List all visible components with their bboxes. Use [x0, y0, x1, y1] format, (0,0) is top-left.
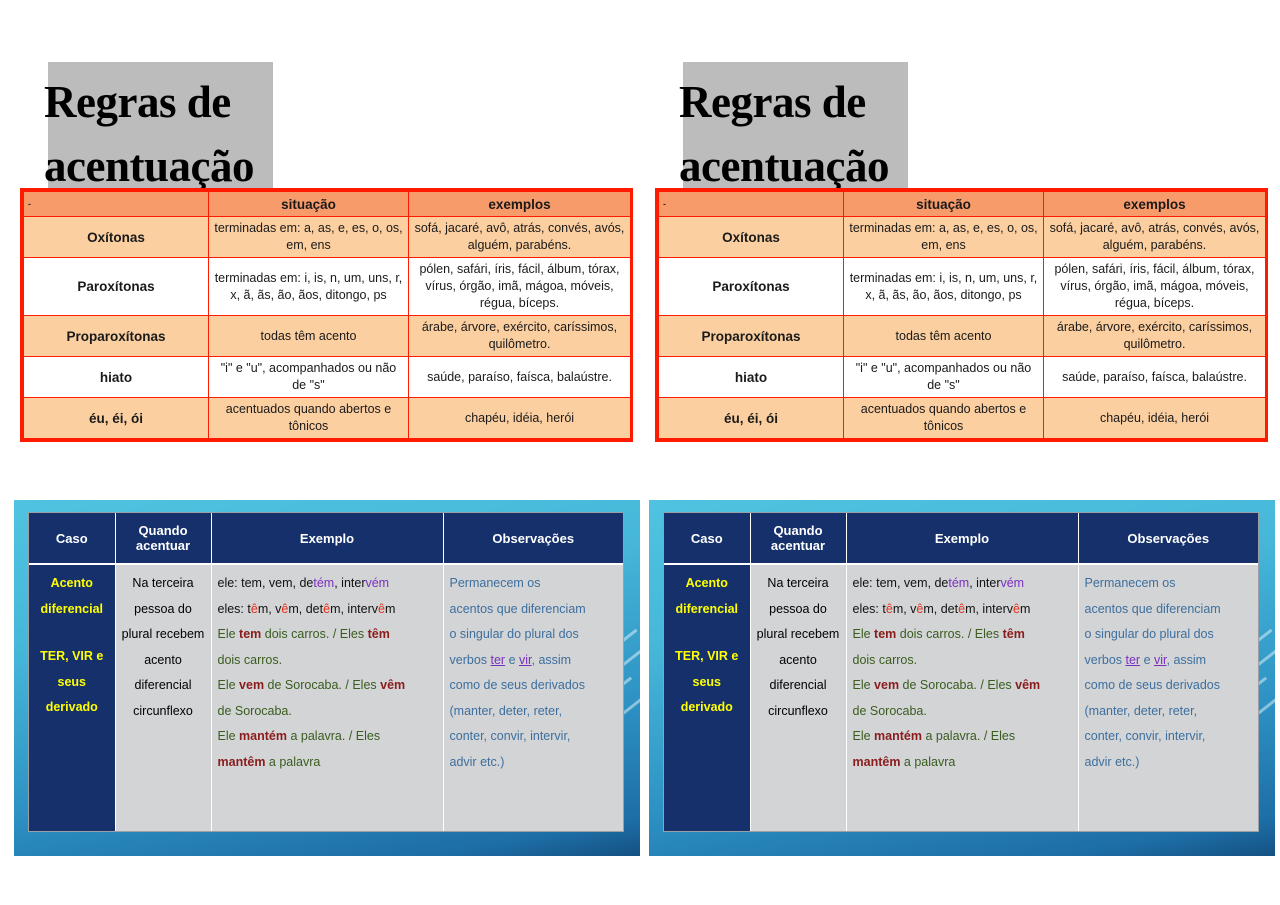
text-fragment: mantêm	[218, 755, 266, 769]
exemplo-line: ele: tem, vem, detém, intervém	[218, 571, 437, 597]
text-fragment: , inter	[969, 576, 1000, 590]
column-header-blank: -	[24, 192, 209, 217]
text-fragment: Ele	[218, 627, 240, 641]
diferencial-slide-panel: Caso Quando acentuar Exemplo Observações…	[14, 500, 640, 856]
cell-situacao: terminadas em: a, as, e, es, o, os, em, …	[844, 217, 1044, 258]
cell-situacao: acentuados quando abertos e tônicos	[844, 398, 1044, 439]
obs-line: como de seus derivados	[450, 673, 618, 699]
table-row: hiato "i" e "u", acompanhados ou não de …	[24, 357, 631, 398]
diferencial-table: Caso Quando acentuar Exemplo Observações…	[663, 512, 1259, 832]
column-header-exemplo: Exemplo	[846, 513, 1078, 564]
cell-observacoes: Permanecem os acentos que diferenciam o …	[1078, 564, 1258, 831]
text-fragment: verbos	[1085, 653, 1126, 667]
text-fragment: Ele	[853, 678, 875, 692]
exemplo-line: eles: têm, vêm, detêm, intervêm	[853, 597, 1072, 623]
text-fragment: mantém	[239, 729, 287, 743]
cell-caso: hiato	[659, 357, 844, 398]
column-header-caso: Caso	[664, 513, 750, 564]
table-row: Proparoxítonas todas têm acento árabe, á…	[659, 316, 1266, 357]
exemplo-line: dois carros.	[853, 648, 1072, 674]
text-fragment: ê	[251, 602, 258, 616]
text-fragment: ê	[886, 602, 893, 616]
exemplo-line: Ele tem dois carros. / Eles têm	[218, 622, 437, 648]
text-fragment: dois carros. / Eles	[261, 627, 367, 641]
verb-link-ter[interactable]: ter	[1126, 653, 1141, 667]
text-fragment: m, det	[288, 602, 323, 616]
text-fragment: m, interv	[965, 602, 1013, 616]
exemplo-line: Ele vem de Sorocaba. / Eles vêm	[853, 673, 1072, 699]
column-header-blank: -	[659, 192, 844, 217]
slide-panel: Regras de acentuação - situação exemplos…	[635, 0, 1275, 905]
column-header-quando-acentuar: Quando acentuar	[750, 513, 846, 564]
diferencial-slide-panel: Caso Quando acentuar Exemplo Observações…	[649, 500, 1275, 856]
table-row: Acento diferencial TER, VIR e seus deriv…	[29, 564, 623, 831]
cell-caso: Proparoxítonas	[659, 316, 844, 357]
text-fragment: m, v	[258, 602, 282, 616]
obs-line: (manter, deter, reter,	[1085, 699, 1253, 725]
obs-line: o singular do plural dos	[1085, 622, 1253, 648]
text-fragment: a palavra	[900, 755, 955, 769]
caso-line: Acento	[51, 576, 93, 590]
cell-caso: Paroxítonas	[24, 258, 209, 316]
caso-line: derivado	[681, 700, 733, 714]
text-fragment: têm	[1003, 627, 1025, 641]
diferencial-table: Caso Quando acentuar Exemplo Observações…	[28, 512, 624, 832]
table-row: Oxítonas terminadas em: a, as, e, es, o,…	[24, 217, 631, 258]
table-row: Acento diferencial TER, VIR e seus deriv…	[664, 564, 1258, 831]
exemplo-line: de Sorocaba.	[853, 699, 1072, 725]
obs-line: como de seus derivados	[1085, 673, 1253, 699]
text-fragment: têm	[368, 627, 390, 641]
exemplo-line: Ele vem de Sorocaba. / Eles vêm	[218, 673, 437, 699]
cell-observacoes: Permanecem os acentos que diferenciam o …	[443, 564, 623, 831]
cell-quando-acentuar: Na terceira pessoa do plural recebem ace…	[115, 564, 211, 831]
caso-line: TER, VIR e	[675, 649, 738, 663]
text-fragment: , assim	[532, 653, 572, 667]
caso-spacer	[670, 622, 744, 644]
obs-line: verbos ter e vir, assim	[450, 648, 618, 674]
text-fragment: Ele	[218, 729, 240, 743]
column-header-exemplo: Exemplo	[211, 513, 443, 564]
cell-caso: Acento diferencial TER, VIR e seus deriv…	[664, 564, 750, 831]
text-fragment: ele: tem, vem, de	[218, 576, 314, 590]
text-fragment: , inter	[334, 576, 365, 590]
exemplo-line: mantêm a palavra	[218, 750, 437, 776]
obs-line: acentos que diferenciam	[1085, 597, 1253, 623]
column-header-exemplos: exemplos	[409, 192, 631, 217]
text-fragment: m, v	[893, 602, 917, 616]
table-row: hiato "i" e "u", acompanhados ou não de …	[659, 357, 1266, 398]
obs-line: o singular do plural dos	[450, 622, 618, 648]
text-fragment: tem	[874, 627, 896, 641]
obs-line: acentos que diferenciam	[450, 597, 618, 623]
text-fragment: vém	[365, 576, 389, 590]
exemplo-line: eles: têm, vêm, detêm, intervêm	[218, 597, 437, 623]
verb-link-vir[interactable]: vir	[519, 653, 532, 667]
column-header-quando-acentuar: Quando acentuar	[115, 513, 211, 564]
text-fragment: tém	[313, 576, 334, 590]
text-fragment: vêm	[1015, 678, 1040, 692]
cell-situacao: "i" e "u", acompanhados ou não de "s"	[209, 357, 409, 398]
cell-caso: Acento diferencial TER, VIR e seus deriv…	[29, 564, 115, 831]
exemplo-line: dois carros.	[218, 648, 437, 674]
obs-line: conter, convir, intervir,	[450, 724, 618, 750]
cell-exemplo: ele: tem, vem, detém, intervém eles: têm…	[211, 564, 443, 831]
cell-situacao: terminadas em: i, is, n, um, uns, r, x, …	[844, 258, 1044, 316]
column-header-caso: Caso	[29, 513, 115, 564]
table-header-row: Caso Quando acentuar Exemplo Observações	[29, 513, 623, 564]
text-fragment: eles: t	[218, 602, 251, 616]
text-fragment: a palavra. / Eles	[922, 729, 1015, 743]
text-fragment: a palavra. / Eles	[287, 729, 380, 743]
text-fragment: tem	[239, 627, 261, 641]
exemplo-line: de Sorocaba.	[218, 699, 437, 725]
caso-line: diferencial	[40, 602, 103, 616]
cell-caso: Paroxítonas	[659, 258, 844, 316]
text-fragment: vem	[239, 678, 264, 692]
text-fragment: e	[1140, 653, 1154, 667]
page-title: Regras de acentuação	[679, 70, 1009, 198]
table-row: éu, éi, ói acentuados quando abertos e t…	[24, 398, 631, 439]
table-row: Proparoxítonas todas têm acento árabe, á…	[24, 316, 631, 357]
cell-exemplos: sofá, jacaré, avô, atrás, convés, avós, …	[409, 217, 631, 258]
caso-spacer	[35, 622, 109, 644]
caso-line: diferencial	[675, 602, 738, 616]
text-fragment: vém	[1000, 576, 1024, 590]
text-fragment: Ele	[218, 678, 240, 692]
cell-exemplos: pólen, safári, íris, fácil, álbum, tórax…	[409, 258, 631, 316]
cell-caso: éu, éi, ói	[659, 398, 844, 439]
cell-caso: éu, éi, ói	[24, 398, 209, 439]
exemplo-line: Ele mantém a palavra. / Eles	[218, 724, 437, 750]
text-fragment: mantém	[874, 729, 922, 743]
obs-line: advir etc.)	[1085, 750, 1253, 776]
exemplo-line: ele: tem, vem, detém, intervém	[853, 571, 1072, 597]
cell-quando-acentuar: Na terceira pessoa do plural recebem ace…	[750, 564, 846, 831]
text-fragment: dois carros. / Eles	[896, 627, 1002, 641]
caso-line: seus	[693, 675, 722, 689]
table-row: éu, éi, ói acentuados quando abertos e t…	[659, 398, 1266, 439]
caso-line: seus	[58, 675, 87, 689]
table-header-row: - situação exemplos	[659, 192, 1266, 217]
text-fragment: de Sorocaba. / Eles	[264, 678, 380, 692]
cell-caso: hiato	[24, 357, 209, 398]
text-fragment: ele: tem, vem, de	[853, 576, 949, 590]
column-header-situacao: situação	[209, 192, 409, 217]
text-fragment: mantêm	[853, 755, 901, 769]
text-fragment: verbos	[450, 653, 491, 667]
cell-situacao: todas têm acento	[209, 316, 409, 357]
cell-exemplos: saúde, paraíso, faísca, balaústre.	[1044, 357, 1266, 398]
cell-caso: Proparoxítonas	[24, 316, 209, 357]
cell-situacao: acentuados quando abertos e tônicos	[209, 398, 409, 439]
obs-line: verbos ter e vir, assim	[1085, 648, 1253, 674]
text-fragment: tém	[948, 576, 969, 590]
cell-exemplos: árabe, árvore, exército, caríssimos, qui…	[409, 316, 631, 357]
cell-exemplo: ele: tem, vem, detém, intervém eles: têm…	[846, 564, 1078, 831]
text-fragment: vêm	[380, 678, 405, 692]
verb-link-ter[interactable]: ter	[491, 653, 506, 667]
accent-rules-table: - situação exemplos Oxítonas terminadas …	[20, 188, 633, 442]
caso-line: TER, VIR e	[40, 649, 103, 663]
table-row: Paroxítonas terminadas em: i, is, n, um,…	[659, 258, 1266, 316]
obs-line: Permanecem os	[1085, 571, 1253, 597]
table-row: Paroxítonas terminadas em: i, is, n, um,…	[24, 258, 631, 316]
verb-link-vir[interactable]: vir	[1154, 653, 1167, 667]
cell-situacao: "i" e "u", acompanhados ou não de "s"	[844, 357, 1044, 398]
text-fragment: Ele	[853, 627, 875, 641]
text-fragment: eles: t	[853, 602, 886, 616]
text-fragment: m	[1020, 602, 1030, 616]
slide-panel: Regras de acentuação - situação exemplos…	[0, 0, 640, 905]
column-header-situacao: situação	[844, 192, 1044, 217]
table-header-row: Caso Quando acentuar Exemplo Observações	[664, 513, 1258, 564]
cell-situacao: terminadas em: i, is, n, um, uns, r, x, …	[209, 258, 409, 316]
table-header-row: - situação exemplos	[24, 192, 631, 217]
cell-exemplos: chapéu, idéia, herói	[1044, 398, 1266, 439]
column-header-exemplos: exemplos	[1044, 192, 1266, 217]
text-fragment: de Sorocaba. / Eles	[899, 678, 1015, 692]
cell-exemplos: sofá, jacaré, avô, atrás, convés, avós, …	[1044, 217, 1266, 258]
obs-line: (manter, deter, reter,	[450, 699, 618, 725]
accent-rules-table: - situação exemplos Oxítonas terminadas …	[655, 188, 1268, 442]
cell-exemplos: árabe, árvore, exército, caríssimos, qui…	[1044, 316, 1266, 357]
caso-line: Acento	[686, 576, 728, 590]
text-fragment: Ele	[853, 729, 875, 743]
text-fragment: m	[385, 602, 395, 616]
cell-caso: Oxítonas	[24, 217, 209, 258]
obs-line: Permanecem os	[450, 571, 618, 597]
text-fragment: e	[505, 653, 519, 667]
text-fragment: vem	[874, 678, 899, 692]
obs-line: advir etc.)	[450, 750, 618, 776]
text-fragment: ê	[1013, 602, 1020, 616]
text-fragment: m, det	[923, 602, 958, 616]
page-title: Regras de acentuação	[44, 70, 374, 198]
cell-situacao: terminadas em: a, as, e, es, o, os, em, …	[209, 217, 409, 258]
table-row: Oxítonas terminadas em: a, as, e, es, o,…	[659, 217, 1266, 258]
exemplo-line: Ele tem dois carros. / Eles têm	[853, 622, 1072, 648]
caso-line: derivado	[46, 700, 98, 714]
column-header-observacoes: Observações	[1078, 513, 1258, 564]
text-fragment: a palavra	[265, 755, 320, 769]
obs-line: conter, convir, intervir,	[1085, 724, 1253, 750]
column-header-observacoes: Observações	[443, 513, 623, 564]
text-fragment: ê	[378, 602, 385, 616]
exemplo-line: Ele mantém a palavra. / Eles	[853, 724, 1072, 750]
cell-exemplos: chapéu, idéia, herói	[409, 398, 631, 439]
cell-exemplos: pólen, safári, íris, fácil, álbum, tórax…	[1044, 258, 1266, 316]
cell-situacao: todas têm acento	[844, 316, 1044, 357]
cell-exemplos: saúde, paraíso, faísca, balaústre.	[409, 357, 631, 398]
text-fragment: m, interv	[330, 602, 378, 616]
exemplo-line: mantêm a palavra	[853, 750, 1072, 776]
cell-caso: Oxítonas	[659, 217, 844, 258]
text-fragment: , assim	[1167, 653, 1207, 667]
